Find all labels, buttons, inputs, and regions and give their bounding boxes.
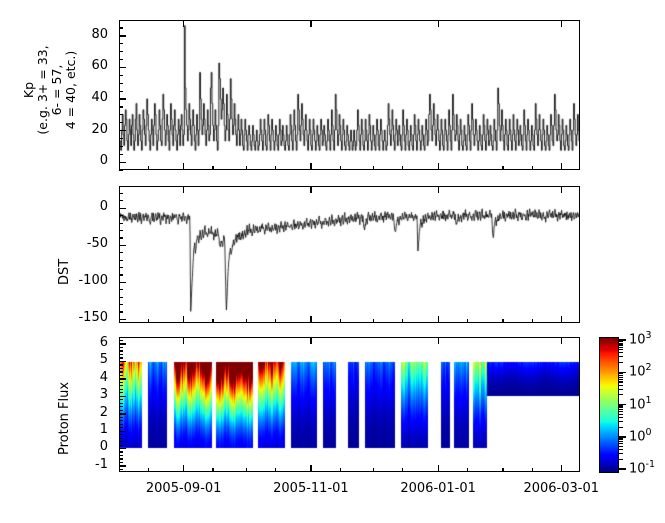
y-tick-label: 20 [0, 122, 108, 137]
colorbar-tick-exponent: -1 [646, 459, 655, 470]
y-tick-label: 40 [0, 90, 108, 105]
colorbar-tick-label: 102 [629, 362, 652, 379]
y-tick-label: 0 [0, 153, 108, 168]
colorbar-tick-exponent: 2 [646, 362, 652, 373]
colorbar-tick-base: 10 [629, 397, 646, 412]
y-tick-label: -100 [0, 273, 108, 288]
x-tick-label: 2006-03-01 [513, 481, 609, 496]
y-tick-label: -150 [0, 310, 108, 325]
y-tick-label: 4 [0, 370, 108, 385]
y-tick-label: 80 [0, 27, 108, 42]
y-tick-label: 60 [0, 58, 108, 73]
colorbar-tick-exponent: 1 [646, 395, 652, 406]
y-tick-label: 1 [0, 422, 108, 437]
colorbar-tick-base: 10 [629, 365, 646, 380]
y-tick-label: 0 [0, 199, 108, 214]
colorbar-tick-label: 101 [629, 395, 652, 412]
colorbar-tick-label: 10-1 [629, 459, 655, 476]
x-tick-label: 2005-09-01 [136, 481, 232, 496]
colorbar-tick-base: 10 [629, 461, 646, 476]
y-tick-label: 3 [0, 387, 108, 402]
y-tick-label: 6 [0, 335, 108, 350]
y-tick-label: -50 [0, 236, 108, 251]
colorbar-tick-exponent: 0 [646, 427, 652, 438]
y-tick-label: 0 [0, 439, 108, 454]
x-tick-label: 2005-11-01 [263, 481, 359, 496]
axis-tick-labels-layer: 0204060800-50-100-150-101234562005-09-01… [0, 0, 665, 523]
y-tick-label: 2 [0, 405, 108, 420]
colorbar-tick-label: 100 [629, 427, 652, 444]
colorbar-tick-exponent: 3 [646, 330, 652, 341]
colorbar-tick-base: 10 [629, 332, 646, 347]
colorbar-tick-label: 103 [629, 330, 652, 347]
figure-canvas: Kp (e.g. 3+ = 33, 6- = 57, 4 = 40, etc.)… [0, 0, 665, 523]
x-tick-label: 2006-01-01 [390, 481, 486, 496]
y-tick-label: 5 [0, 352, 108, 367]
colorbar-tick-base: 10 [629, 429, 646, 444]
y-tick-label: -1 [0, 457, 108, 472]
